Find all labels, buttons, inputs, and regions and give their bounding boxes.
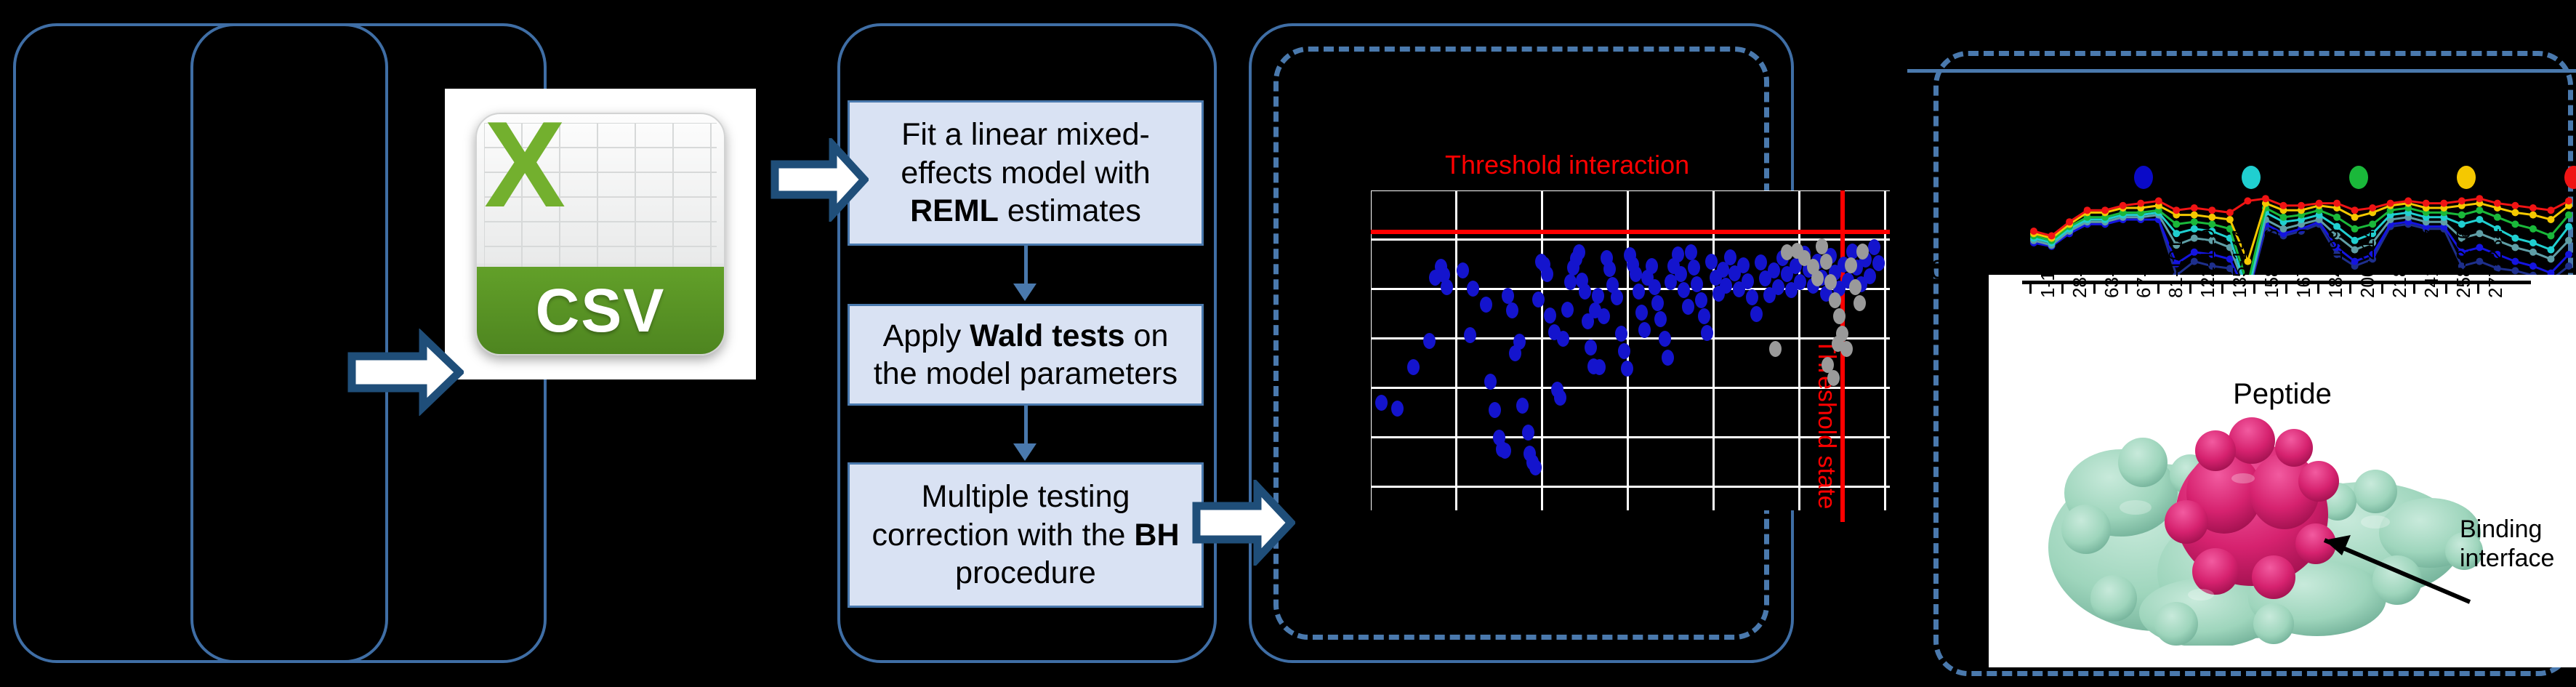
step1-text-bold: REML: [910, 193, 999, 228]
line-point: [2333, 200, 2340, 207]
x-axis-tick: [2381, 284, 2383, 294]
line-point: [2351, 206, 2359, 214]
line-point: [2511, 202, 2519, 209]
line-point: [2565, 197, 2572, 204]
scatter-point: [1654, 311, 1667, 327]
scatter-point: [1691, 276, 1703, 292]
line-point: [2030, 228, 2037, 235]
csv-file-icon: X CSV: [445, 89, 756, 379]
line-point: [2279, 202, 2287, 209]
x-axis-tick-label: 81-101: [2165, 239, 2187, 298]
excel-x-letter: X: [484, 117, 579, 219]
binding-interface-label: Binding interface: [2460, 515, 2554, 573]
csv-badge: X CSV: [475, 113, 725, 355]
scatter-point: [1513, 334, 1526, 350]
x-axis-tick: [2221, 284, 2223, 294]
scatter-point: [1856, 244, 1869, 260]
line-point: [2458, 212, 2466, 219]
line-point: [2476, 230, 2483, 237]
line-point: [2226, 216, 2234, 223]
line-point: [2494, 214, 2501, 221]
scatter-point: [1672, 246, 1684, 262]
line-point: [2191, 212, 2198, 219]
scatter-point: [1864, 268, 1876, 284]
line-point: [2529, 249, 2537, 256]
scatter-point: [1391, 401, 1404, 417]
scatter-point: [1742, 273, 1754, 289]
arrow-data-to-process: [770, 138, 869, 222]
line-point: [2369, 220, 2376, 228]
line-point: [2529, 239, 2537, 246]
connector-step1-step2: [1024, 246, 1028, 286]
arrow-process-to-results: [1192, 480, 1295, 566]
x-axis-tick-label: 258-266: [2452, 229, 2475, 298]
scatter-point: [1603, 261, 1616, 277]
scatter-point: [1592, 288, 1604, 304]
line-point: [2191, 218, 2198, 225]
process-step-wald-tests: Apply Wald tests on the model parameters: [848, 304, 1204, 406]
scatter-point: [1646, 258, 1658, 274]
x-axis-tick: [2093, 284, 2096, 294]
scatter-point: [1423, 333, 1436, 349]
x-axis-tick: [2157, 284, 2160, 294]
scatter-point: [1769, 341, 1782, 357]
x-axis-tick-label: 200-214: [2356, 229, 2379, 298]
line-point: [2137, 200, 2144, 207]
line-point: [2476, 206, 2483, 214]
line-point: [2333, 214, 2340, 221]
scatter-point: [1820, 254, 1832, 270]
scatter-point: [1541, 266, 1553, 282]
line-point: [2084, 206, 2091, 214]
scatter-point: [1484, 374, 1497, 390]
scatter-point: [1441, 279, 1453, 295]
line-point: [2173, 206, 2180, 214]
x-axis-tick-label: 67-75: [2133, 250, 2155, 299]
scatter-point: [1829, 292, 1841, 308]
csv-label-band: CSV: [477, 267, 724, 354]
scatter-point: [1705, 254, 1718, 270]
line-point: [2351, 214, 2359, 221]
threshold-interaction-line: [1371, 230, 1890, 234]
scatter-point: [1755, 254, 1767, 270]
line-point: [2529, 212, 2537, 219]
step3-text-a: Multiple testing correction with the: [872, 479, 1135, 552]
x-axis-tick-label: 135-144: [2229, 229, 2251, 298]
x-axis-tick: [2349, 284, 2351, 294]
step1-text-a: Fit a linear mixed-effects model with: [901, 117, 1150, 190]
x-axis-tick: [2413, 284, 2415, 294]
scatter-point: [1618, 343, 1630, 359]
x-axis-tick-label: 63-73: [2101, 250, 2123, 299]
scatter-point: [1651, 295, 1664, 311]
step3-text-bold: BH: [1134, 518, 1179, 553]
x-axis-tick: [2445, 284, 2447, 294]
line-point: [2511, 220, 2519, 228]
scatter-point: [1682, 299, 1694, 315]
x-axis-tick-label: 218-237: [2388, 229, 2411, 298]
line-point: [2511, 258, 2519, 265]
line-point: [2476, 195, 2483, 202]
line-point: [2208, 206, 2215, 214]
line-point: [2173, 220, 2180, 228]
x-axis-tick-label: 1-15: [2037, 260, 2059, 298]
x-axis-tick: [2125, 284, 2128, 294]
arrow-input-to-data: [347, 329, 464, 416]
line-point: [2423, 200, 2430, 207]
y-axis-zero-label: 0.0: [1909, 254, 1945, 285]
line-point: [2547, 216, 2554, 223]
scatter-point: [1868, 239, 1880, 255]
scatter-point: [1772, 279, 1784, 295]
scatter-point: [1845, 257, 1857, 273]
scatter-point: [1554, 390, 1566, 406]
line-point: [2529, 225, 2537, 233]
line-point: [2048, 232, 2056, 239]
line-point: [2511, 267, 2519, 274]
scatter-point: [1593, 359, 1606, 375]
line-point: [2404, 197, 2412, 204]
scatter-point: [1849, 279, 1861, 295]
scatter-point: [1750, 306, 1763, 322]
line-point: [2458, 220, 2466, 228]
x-axis-tick: [2029, 284, 2032, 294]
scatter-point: [1561, 302, 1574, 318]
line-point: [2476, 258, 2483, 265]
connector-step2-step3: [1024, 406, 1028, 446]
line-point: [2208, 220, 2215, 228]
line-point: [2565, 237, 2572, 244]
x-axis-tick: [2285, 284, 2287, 294]
line-point: [2440, 200, 2447, 207]
binding-interface-line2: interface: [2460, 544, 2554, 573]
line-point: [2262, 195, 2269, 202]
scatter-point: [1615, 326, 1627, 342]
line-point: [2529, 262, 2537, 270]
scatter-point: [1502, 288, 1514, 304]
line-point: [2458, 197, 2466, 204]
scatter-point: [1816, 238, 1828, 254]
line-point: [2101, 206, 2109, 214]
scatter-point: [1675, 266, 1687, 282]
x-axis-tick-label: 184-199: [2325, 229, 2347, 298]
x-axis-tick-label: 241-257: [2420, 229, 2443, 298]
x-axis-tick: [2189, 284, 2191, 294]
scatter-point: [1407, 359, 1420, 375]
x-axis-tick-label: 277-284: [2484, 229, 2507, 298]
step1-text-b: estimates: [999, 193, 1141, 228]
line-point: [2208, 214, 2215, 221]
line-point: [2279, 214, 2287, 221]
line-point: [2565, 262, 2572, 270]
connector-arrow-head-1: [1013, 284, 1037, 301]
scatter-point: [1529, 459, 1542, 475]
x-axis-tick: [2477, 284, 2479, 294]
line-point: [2316, 200, 2323, 207]
step2-text-a: Apply: [883, 318, 970, 353]
line-point: [2511, 235, 2519, 242]
line-point: [2529, 204, 2537, 212]
threshold-interaction-label: Threshold interaction: [1445, 150, 1689, 180]
scatter-point: [1695, 292, 1707, 308]
line-point: [2066, 218, 2073, 225]
scatter-point: [1585, 340, 1597, 355]
scatter-point: [1649, 279, 1661, 295]
line-point: [2547, 206, 2554, 214]
line-point: [2298, 202, 2305, 209]
line-point: [2173, 230, 2180, 237]
scatter-point: [1633, 284, 1645, 300]
line-point: [2244, 197, 2251, 204]
scatter-point: [1638, 322, 1651, 338]
line-point: [2476, 244, 2483, 251]
process-step-bh-correction: Multiple testing correction with the BH …: [848, 462, 1204, 608]
line-point: [2565, 223, 2572, 230]
csv-label: CSV: [536, 276, 666, 346]
x-axis-tick-label: 122-129: [2197, 229, 2219, 298]
scatter-point: [1467, 281, 1479, 297]
x-axis-tick: [2061, 284, 2064, 294]
scatter-point: [1737, 257, 1750, 273]
step2-text-bold: Wald tests: [970, 318, 1124, 353]
line-point: [2547, 232, 2554, 239]
line-point: [2369, 204, 2376, 212]
scatter-point: [1724, 249, 1736, 265]
scatter-point: [1853, 295, 1866, 311]
line-point: [2511, 244, 2519, 251]
scatter-plot: Threshold interaction Threshold state: [1336, 144, 1890, 551]
process-step-fit-model: Fit a linear mixed-effects model with RE…: [848, 100, 1204, 246]
line-point: [2191, 204, 2198, 212]
line-point: [2120, 202, 2127, 209]
line-point: [2226, 209, 2234, 216]
x-axis-tick-label: 167-180: [2293, 229, 2315, 298]
scatter-point: [1832, 336, 1844, 352]
protein-surface-render: [2034, 406, 2484, 646]
scatter-point: [1827, 370, 1840, 386]
x-axis-tick-label: 28-44: [2069, 250, 2091, 299]
connector-arrow-head-2: [1013, 443, 1037, 461]
scatter-point: [1701, 325, 1713, 341]
step3-text-b: procedure: [955, 555, 1096, 590]
x-axis-tick-label: 158-166: [2261, 229, 2283, 298]
line-point: [2565, 251, 2572, 258]
line-point: [2155, 197, 2162, 204]
x-axis-tick: [2253, 284, 2255, 294]
scatter-point: [1630, 266, 1642, 282]
line-point: [2565, 212, 2572, 219]
line-point: [2511, 209, 2519, 216]
line-point: [2476, 216, 2483, 223]
line-point: [2387, 200, 2394, 207]
line-point: [2494, 200, 2501, 207]
line-point: [2547, 246, 2554, 254]
scatter-point: [1579, 284, 1591, 300]
scatter-point: [1532, 292, 1545, 308]
structure-figure-card: 0.0 1-1528-4463-7367-7581-101122-129135-…: [1989, 275, 2576, 667]
x-axis-tick: [2317, 284, 2319, 294]
line-point: [2547, 255, 2554, 262]
scatter-point: [1506, 302, 1518, 318]
binding-interface-line1: Binding: [2460, 515, 2554, 544]
